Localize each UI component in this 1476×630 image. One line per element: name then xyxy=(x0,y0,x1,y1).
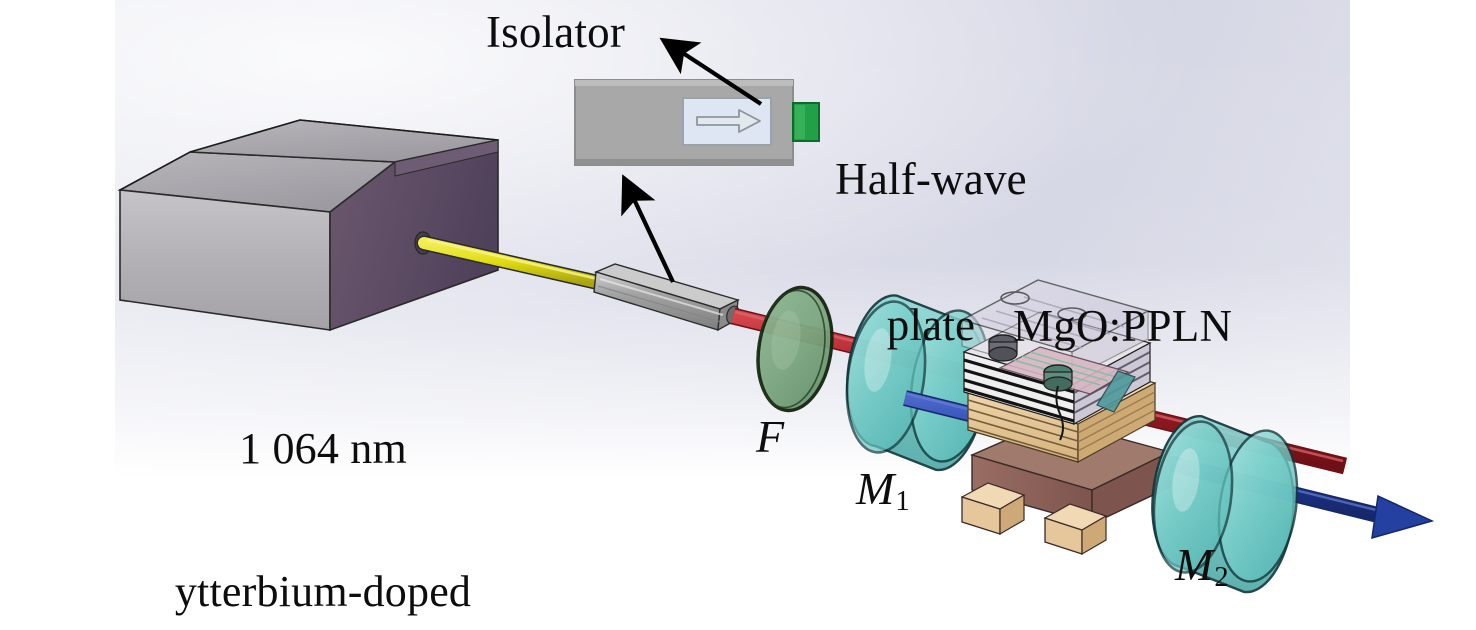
label-mirror-M2-subscript: 2 xyxy=(1213,562,1228,593)
label-mgo-ppln: MgO:PPLN xyxy=(1013,302,1232,351)
label-mirror-M2: M2 xyxy=(1175,538,1229,594)
label-half-wave-line1: Half-wave xyxy=(822,155,1040,204)
arrow-module-inset xyxy=(624,178,673,282)
label-mirror-M1-subscript: 1 xyxy=(894,486,909,517)
fiber-laser-box xyxy=(120,120,498,330)
label-laser-line2: ytterbium-doped xyxy=(104,568,542,616)
label-isolator: Isolator xyxy=(486,8,625,57)
beam-arrowhead xyxy=(1372,496,1432,538)
label-fiber-laser: 1 064 nm ytterbium-doped fiber laser xyxy=(104,330,542,630)
label-lens-F: F xyxy=(756,410,784,463)
label-half-wave-plate: Half-wave plate xyxy=(822,58,1040,447)
label-laser-line1: 1 064 nm xyxy=(104,425,542,473)
label-mirror-M1: M1 xyxy=(856,462,910,518)
figure-canvas: Isolator Half-wave plate MgO:PPLN 1 064 … xyxy=(0,0,1476,630)
label-mirror-M2-letter: M xyxy=(1175,539,1213,590)
isolator-inset xyxy=(575,80,819,165)
label-mirror-M1-letter: M xyxy=(856,463,894,514)
label-half-wave-line2: plate xyxy=(822,301,1040,350)
label-lens-F-letter: F xyxy=(756,411,784,462)
